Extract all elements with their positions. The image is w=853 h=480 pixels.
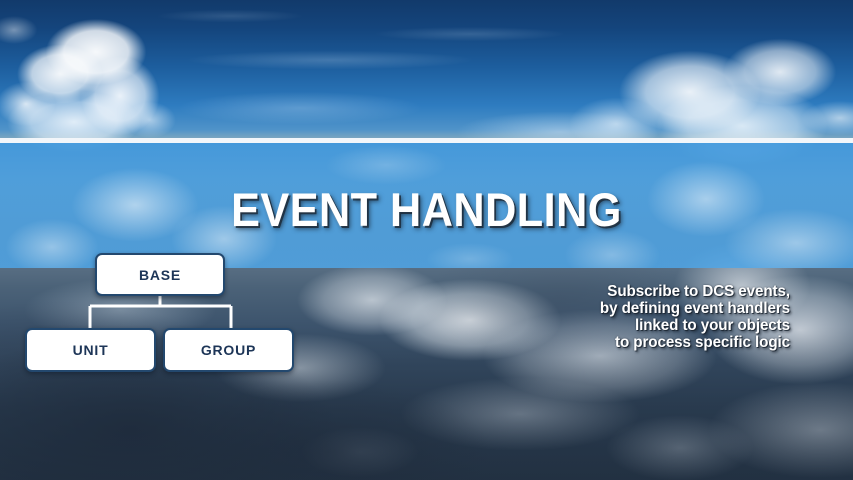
caption-block: Subscribe to DCS events, by defining eve…: [448, 283, 790, 351]
diagram-node-base[interactable]: BASE: [95, 253, 225, 296]
caption-line-3: linked to your objects: [448, 317, 790, 334]
caption-line-4: to process specific logic: [448, 334, 790, 351]
slide-root: EVENT HANDLING BASE UNIT GROUP Subscribe…: [0, 0, 853, 480]
diagram-node-group[interactable]: GROUP: [163, 328, 294, 372]
caption-line-2: by defining event handlers: [448, 300, 790, 317]
diagram-node-unit[interactable]: UNIT: [25, 328, 156, 372]
class-inheritance-diagram: BASE UNIT GROUP: [0, 0, 360, 400]
caption-line-1: Subscribe to DCS events,: [448, 283, 790, 300]
